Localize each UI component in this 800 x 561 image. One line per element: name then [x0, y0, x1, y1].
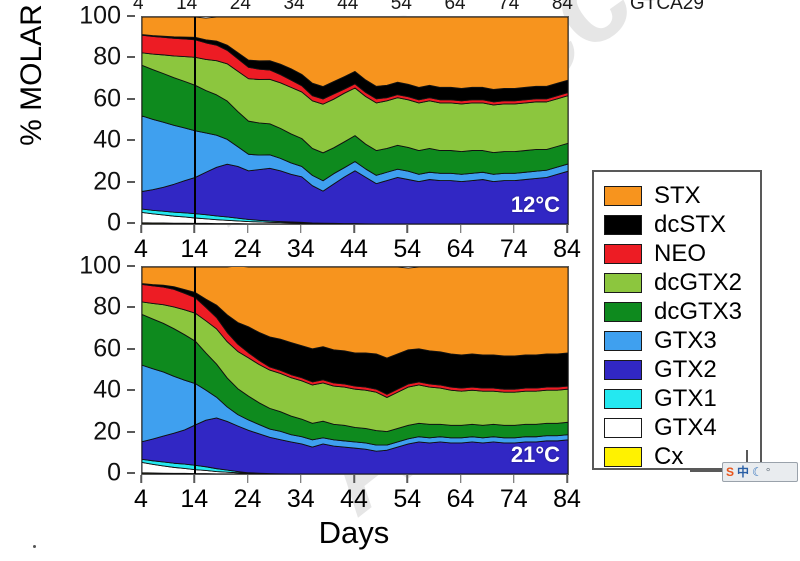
- legend-swatch-icon: [604, 215, 642, 235]
- legend-item-gtx3[interactable]: GTX3: [604, 326, 760, 355]
- y-axis-tick-mark: [127, 306, 135, 308]
- plot-area-12c: 12°C: [141, 16, 569, 225]
- x-axis-tick-label: 4: [134, 485, 148, 514]
- x-axis-tick-label: 64: [447, 485, 475, 514]
- legend-item-gtx4[interactable]: GTX4: [604, 413, 760, 442]
- y-axis-tick-label: 60: [93, 334, 121, 363]
- legend: STXdcSTXNEOdcGTX2dcGTX3GTX3GTX2GTX1GTX4C…: [592, 170, 762, 470]
- y-axis-tick-mark: [127, 98, 135, 100]
- x-axis-tick-mark: [513, 475, 515, 483]
- legend-swatch-icon: [604, 273, 642, 293]
- x-axis-tick-mark: [300, 475, 302, 483]
- legend-item-dcgtx2[interactable]: dcGTX2: [604, 268, 760, 297]
- y-axis-tick-label: 40: [93, 376, 121, 405]
- x-axis-tick-mark: [300, 225, 302, 233]
- sogou-icon[interactable]: S: [726, 466, 734, 478]
- legend-item-label: dcGTX3: [654, 300, 742, 324]
- plot-area-21c: 21°C: [141, 266, 569, 475]
- legend-item-label: GTX4: [654, 416, 717, 440]
- legend-item-label: GTX1: [654, 387, 717, 411]
- y-axis-tick-label: 80: [93, 293, 121, 322]
- x-axis-tick-mark: [566, 475, 568, 483]
- y-axis-tick-label: 40: [93, 126, 121, 155]
- x-axis-tick-mark: [407, 225, 409, 233]
- legend-item-label: Cx: [654, 445, 683, 469]
- marker-line-day14: [194, 17, 196, 224]
- y-axis-tick-label: 0: [107, 209, 121, 238]
- temperature-badge: 12°C: [511, 192, 560, 218]
- legend-item-label: GTX3: [654, 329, 717, 353]
- x-axis-tick-mark: [353, 225, 355, 233]
- legend-item-dcstx[interactable]: dcSTX: [604, 210, 760, 239]
- legend-swatch-icon: [604, 360, 642, 380]
- x-axis-title: Days: [141, 515, 567, 551]
- x-axis-tick-mark: [513, 225, 515, 233]
- legend-item-label: dcGTX2: [654, 271, 742, 295]
- x-axis-tick-label: 74: [500, 485, 528, 514]
- x-axis-tick-mark: [140, 225, 142, 233]
- stacked-area-chart: [142, 17, 568, 224]
- legend-swatch-icon: [604, 302, 642, 322]
- y-axis-tick-mark: [127, 56, 135, 58]
- y-axis-tick-mark: [127, 265, 135, 267]
- chart-panel-21c: 020406080100 21°C 41424344454647484: [0, 252, 600, 502]
- legend-item-stx[interactable]: STX: [604, 181, 760, 210]
- x-axis-bottom: 41424344454647484: [141, 475, 567, 509]
- legend-item-label: dcSTX: [654, 213, 726, 237]
- x-axis-tick-label: 44: [340, 485, 368, 514]
- x-axis-tick-mark: [353, 475, 355, 483]
- y-axis-tick-mark: [127, 348, 135, 350]
- x-axis-tick-mark: [566, 225, 568, 233]
- legend-swatch-icon: [604, 418, 642, 438]
- y-axis-tick-label: 100: [79, 2, 121, 31]
- legend-item-label: STX: [654, 184, 701, 208]
- cropped-chart-title: GTCA29: [630, 0, 704, 13]
- legend-swatch-icon: [604, 186, 642, 206]
- legend-item-neo[interactable]: NEO: [604, 239, 760, 268]
- corner-dot: [33, 545, 36, 548]
- legend-item-label: GTX2: [654, 358, 717, 382]
- y-axis-tick-label: 100: [79, 252, 121, 281]
- chart-panel-12c: 020406080100 % MOLAR 12°C 41424344454647…: [0, 8, 600, 258]
- legend-swatch-icon: [604, 244, 642, 264]
- y-axis-tick-mark: [127, 222, 135, 224]
- stacked-area-chart: [142, 267, 568, 474]
- legend-item-dcgtx3[interactable]: dcGTX3: [604, 297, 760, 326]
- x-axis-tick-label: 34: [287, 485, 315, 514]
- x-axis-tick-mark: [194, 475, 196, 483]
- y-axis-tick-mark: [127, 472, 135, 474]
- legend-item-gtx2[interactable]: GTX2: [604, 355, 760, 384]
- x-axis-tick-mark: [247, 225, 249, 233]
- y-axis-tick-label: 20: [93, 417, 121, 446]
- temperature-badge: 21°C: [511, 442, 560, 468]
- y-axis-tick-mark: [127, 389, 135, 391]
- x-axis-tick-label: 54: [393, 485, 421, 514]
- y-axis-tick-mark: [127, 139, 135, 141]
- y-axis-tick-mark: [127, 431, 135, 433]
- legend-item-label: NEO: [654, 242, 706, 266]
- x-axis-tick-label: 24: [234, 485, 262, 514]
- x-axis-tick-mark: [460, 225, 462, 233]
- legend-item-gtx1[interactable]: GTX1: [604, 384, 760, 413]
- degree-icon[interactable]: °: [766, 466, 771, 478]
- y-axis-label: % MOLAR: [15, 0, 49, 205]
- y-axis-tick-mark: [127, 15, 135, 17]
- y-axis-tick-label: 60: [93, 84, 121, 113]
- legend-swatch-icon: [604, 331, 642, 351]
- marker-line-day14: [194, 267, 196, 474]
- y-axis-tick-label: 80: [93, 43, 121, 72]
- y-axis-tick-label: 0: [107, 459, 121, 488]
- x-axis-tick-mark: [194, 225, 196, 233]
- x-axis-tick-mark: [407, 475, 409, 483]
- x-axis-tick-label: 14: [180, 485, 208, 514]
- legend-swatch-icon: [604, 447, 642, 467]
- legend-swatch-icon: [604, 389, 642, 409]
- figure-root: Acce Acce Acce 41424344454647484 GTCA29 …: [0, 0, 800, 561]
- chinese-input-icon[interactable]: 中: [737, 466, 749, 478]
- x-axis-tick-mark: [460, 475, 462, 483]
- x-axis-tick-mark: [247, 475, 249, 483]
- y-axis-tick-mark: [127, 181, 135, 183]
- moon-icon[interactable]: ☾: [752, 466, 763, 478]
- y-axis-bottom: 020406080100: [0, 266, 135, 473]
- y-axis-tick-label: 20: [93, 167, 121, 196]
- x-axis-tick-mark: [140, 475, 142, 483]
- ime-toolbar[interactable]: S 中 ☾ °: [722, 462, 798, 482]
- x-axis-tick-label: 84: [553, 485, 581, 514]
